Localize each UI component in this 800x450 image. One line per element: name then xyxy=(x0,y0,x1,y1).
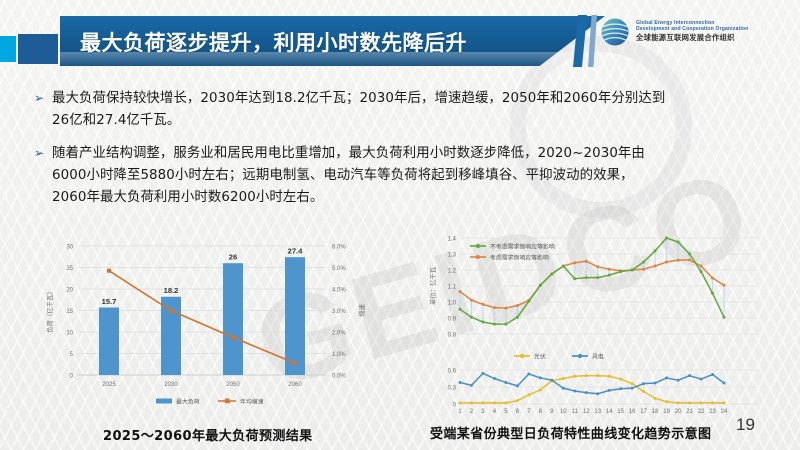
bullet-body: 随着产业结构调整，服务业和居民用电比重增加，最大负荷利用小时数逐步降低，2020… xyxy=(52,143,645,209)
svg-text:30: 30 xyxy=(66,244,73,250)
svg-text:负荷（亿千瓦）: 负荷（亿千瓦） xyxy=(45,288,54,333)
svg-text:1.1: 1.1 xyxy=(448,284,457,290)
bullet-body: 最大负荷保持较快增长，2030年达到18.2亿千瓦；2030年后，增速趋缓，20… xyxy=(52,88,665,132)
svg-text:22: 22 xyxy=(698,409,705,415)
bullet-line: 26亿和27.4亿千瓦。 xyxy=(52,110,665,132)
svg-text:不考虑需求侧响应等影响: 不考虑需求侧响应等影响 xyxy=(490,242,555,250)
svg-text:风电: 风电 xyxy=(592,353,604,361)
svg-text:3.0%: 3.0% xyxy=(332,309,346,315)
header-accent-cyan-square xyxy=(0,36,16,62)
svg-text:最大负荷: 最大负荷 xyxy=(176,398,200,406)
svg-text:0.0%: 0.0% xyxy=(332,373,346,379)
svg-text:光伏: 光伏 xyxy=(534,353,546,361)
svg-text:13: 13 xyxy=(594,409,601,415)
svg-text:2030: 2030 xyxy=(164,382,178,388)
logo-cn-name: 全球能源互联网发展合作组织 xyxy=(636,34,748,42)
svg-text:25: 25 xyxy=(66,266,73,272)
svg-text:0.8: 0.8 xyxy=(448,332,457,338)
svg-text:7: 7 xyxy=(527,409,531,415)
svg-text:8: 8 xyxy=(539,409,543,415)
caption-left-chart: 2025～2060年最大负荷预测结果 xyxy=(103,425,313,444)
caption-right-chart: 受端某省份典型日负荷特性曲线变化趋势示意图 xyxy=(430,423,711,442)
svg-text:27.4: 27.4 xyxy=(288,247,304,256)
geidco-logo: Global Energy Interconnection Developmen… xyxy=(600,17,748,47)
svg-text:14: 14 xyxy=(606,409,613,415)
bullet-line: 随着产业结构调整，服务业和居民用电比重增加，最大负荷利用小时数逐步降低，2020… xyxy=(52,143,645,165)
svg-text:1.0%: 1.0% xyxy=(332,352,346,358)
svg-text:24: 24 xyxy=(721,409,728,415)
svg-text:1.2: 1.2 xyxy=(448,268,457,274)
svg-text:考虑需求侧响应等影响: 考虑需求侧响应等影响 xyxy=(490,253,549,261)
svg-text:单位：亿千瓦: 单位：亿千瓦 xyxy=(428,266,437,305)
svg-text:1.4: 1.4 xyxy=(448,236,457,242)
chart-renewable-output: 00.30.6123456789101112131415161718192021… xyxy=(424,348,780,418)
svg-text:15: 15 xyxy=(66,309,73,315)
svg-text:11: 11 xyxy=(572,409,579,415)
page-number: 19 xyxy=(736,415,755,435)
logo-text: Global Energy Interconnection Developmen… xyxy=(636,21,748,43)
bullet-list: ➢ 最大负荷保持较快增长，2030年达到18.2亿千瓦；2030年后，增速趋缓，… xyxy=(34,88,774,220)
svg-text:20: 20 xyxy=(675,409,682,415)
svg-text:2.0%: 2.0% xyxy=(332,330,346,336)
svg-text:0.6: 0.6 xyxy=(448,368,457,374)
svg-text:0.3: 0.3 xyxy=(448,385,457,391)
svg-text:1.3: 1.3 xyxy=(448,252,457,258)
svg-text:0.9: 0.9 xyxy=(448,316,457,322)
bullet-marker-icon: ➢ xyxy=(34,88,52,132)
chart-daily-load-curve: 0.80.91.01.11.21.31.4单位：亿千瓦不考虑需求侧响应等影响考虑… xyxy=(424,230,780,348)
globe-icon xyxy=(600,17,630,47)
svg-text:21: 21 xyxy=(686,409,693,415)
svg-text:4: 4 xyxy=(493,409,497,415)
svg-text:2: 2 xyxy=(470,409,474,415)
svg-text:4.0%: 4.0% xyxy=(332,287,346,293)
svg-text:15: 15 xyxy=(617,409,624,415)
svg-text:16: 16 xyxy=(629,409,636,415)
svg-text:18: 18 xyxy=(652,409,659,415)
bullet-marker-icon: ➢ xyxy=(34,143,52,209)
bullet-line: 2060年最大负荷利用小时数6200小时左右。 xyxy=(52,187,645,209)
svg-text:5: 5 xyxy=(70,352,74,358)
svg-text:6.0%: 6.0% xyxy=(332,244,346,250)
svg-text:15.7: 15.7 xyxy=(102,297,117,306)
svg-text:2025: 2025 xyxy=(102,382,116,388)
svg-text:19: 19 xyxy=(663,409,670,415)
bullet-line: 6000小时降至5880小时左右；远期电制氢、电动汽车等负荷将起到移峰填谷、平抑… xyxy=(52,165,645,187)
svg-text:9: 9 xyxy=(550,409,554,415)
svg-text:2060: 2060 xyxy=(288,382,302,388)
list-item: ➢ 随着产业结构调整，服务业和居民用电比重增加，最大负荷利用小时数逐步降低，20… xyxy=(34,143,774,209)
svg-text:2050: 2050 xyxy=(226,382,240,388)
logo-en-line2: Development and Cooperation Organization xyxy=(636,27,748,33)
svg-text:0: 0 xyxy=(453,402,457,408)
svg-text:26: 26 xyxy=(229,253,237,262)
svg-text:增速: 增速 xyxy=(357,304,366,317)
svg-text:10: 10 xyxy=(560,409,567,415)
svg-text:3: 3 xyxy=(481,409,485,415)
bullet-line: 最大负荷保持较快增长，2030年达到18.2亿千瓦；2030年后，增速趋缓，20… xyxy=(52,88,665,110)
list-item: ➢ 最大负荷保持较快增长，2030年达到18.2亿千瓦；2030年后，增速趋缓，… xyxy=(34,88,774,132)
svg-text:1: 1 xyxy=(458,409,462,415)
svg-text:6: 6 xyxy=(516,409,520,415)
header-accent-blue-square xyxy=(18,34,58,64)
svg-text:17: 17 xyxy=(640,409,647,415)
svg-text:20: 20 xyxy=(66,287,73,293)
svg-text:年均增速: 年均增速 xyxy=(240,398,264,406)
svg-text:18.2: 18.2 xyxy=(164,286,179,295)
page-title: 最大负荷逐步提升，利用小时数先降后升 xyxy=(80,27,467,57)
svg-text:5.0%: 5.0% xyxy=(332,266,346,272)
chart-max-load-forecast: 0510152025300.0%1.0%2.0%3.0%4.0%5.0%6.0%… xyxy=(36,232,381,417)
svg-text:10: 10 xyxy=(66,330,73,336)
svg-text:0: 0 xyxy=(70,373,74,379)
svg-text:5: 5 xyxy=(504,409,508,415)
svg-text:12: 12 xyxy=(583,409,590,415)
svg-text:1.0: 1.0 xyxy=(448,300,457,306)
svg-text:23: 23 xyxy=(709,409,716,415)
